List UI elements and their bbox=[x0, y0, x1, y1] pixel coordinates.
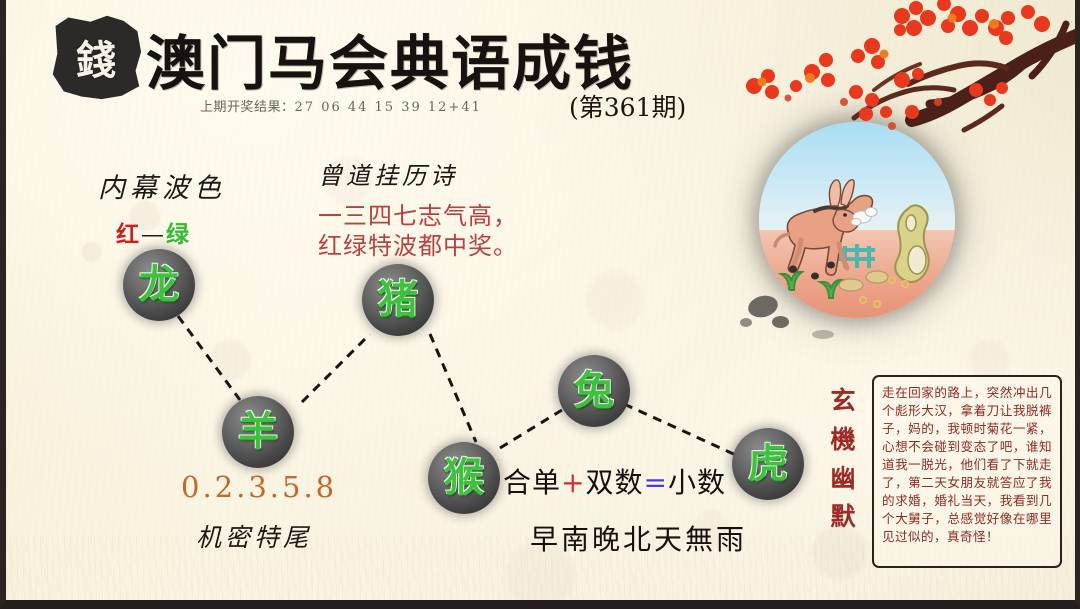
poem-title: 曾道挂历诗 bbox=[318, 156, 458, 191]
formula-equals: = bbox=[644, 466, 668, 499]
secret-tail-numbers: 0.2.3.5.8 bbox=[181, 470, 337, 504]
wave-color-dash: — bbox=[141, 222, 166, 248]
zodiac-stone-zhu[interactable]: 猪 bbox=[362, 264, 434, 336]
zodiac-label: 兔 bbox=[574, 371, 614, 411]
zodiac-stone-yang[interactable]: 羊 bbox=[222, 396, 294, 468]
zodiac-stone-long[interactable]: 龙 bbox=[123, 249, 195, 321]
formula-middle: 双数 bbox=[585, 466, 643, 499]
humor-title-char: 幽 bbox=[826, 460, 860, 499]
money-seal-icon: 錢 bbox=[50, 14, 142, 100]
last-draw-numbers: 27 06 44 15 39 12+41 bbox=[295, 100, 482, 115]
last-draw-result: 上期开奖结果：27 06 44 15 39 12+41 bbox=[200, 96, 482, 115]
page-title: 澳门马会典语成钱 bbox=[146, 16, 634, 101]
bottom-saying: 早南晚北天無雨 bbox=[530, 518, 747, 558]
formula-plus: + bbox=[561, 466, 585, 499]
humor-title-char: 默 bbox=[826, 498, 860, 537]
secret-tail-caption: 机密特尾 bbox=[196, 518, 312, 554]
formula-expression: 合单+双数=小数 bbox=[503, 461, 726, 501]
formula-left: 合单 bbox=[503, 466, 561, 499]
zodiac-stone-tu[interactable]: 兔 bbox=[558, 355, 630, 427]
humor-title-char: 玄 bbox=[826, 382, 860, 421]
wave-color-green: 绿 bbox=[166, 221, 191, 248]
humor-section-title: 玄機幽默 bbox=[826, 382, 860, 537]
last-draw-label: 上期开奖结果： bbox=[200, 100, 295, 115]
humor-text-box: 走在回家的路上，突然冲出几个彪形大汉，拿着刀让我脱裤子，妈的，我顿时菊花一紧，心… bbox=[872, 375, 1062, 568]
zodiac-label: 龙 bbox=[139, 265, 179, 305]
zodiac-label: 猪 bbox=[378, 280, 418, 320]
humor-text: 走在回家的路上，突然冲出几个彪形大汉，拿着刀让我脱裤子，妈的，我顿时菊花一紧，心… bbox=[882, 384, 1052, 546]
issue-number: (第361期) bbox=[569, 88, 686, 124]
poster-canvas: 錢 澳门马会典语成钱 (第361期) 上期开奖结果：27 06 44 15 39… bbox=[0, 0, 1080, 609]
zodiac-stone-hu[interactable]: 虎 bbox=[732, 428, 804, 500]
wave-color-pair: 红—绿 bbox=[116, 215, 191, 249]
humor-title-char: 機 bbox=[826, 421, 860, 460]
zodiac-label: 虎 bbox=[748, 444, 788, 484]
zodiac-stone-hou[interactable]: 猴 bbox=[428, 442, 500, 514]
poem-line-2: 红绿特波都中奖。 bbox=[318, 226, 518, 261]
zodiac-label: 羊 bbox=[238, 412, 278, 452]
wave-color-red: 红 bbox=[116, 221, 141, 248]
zodiac-label: 猴 bbox=[444, 458, 484, 498]
inside-wave-label: 内幕波色 bbox=[98, 166, 226, 205]
formula-right: 小数 bbox=[668, 466, 726, 499]
header: 錢 澳门马会典语成钱 (第361期) 上期开奖结果：27 06 44 15 39… bbox=[6, 0, 1075, 128]
